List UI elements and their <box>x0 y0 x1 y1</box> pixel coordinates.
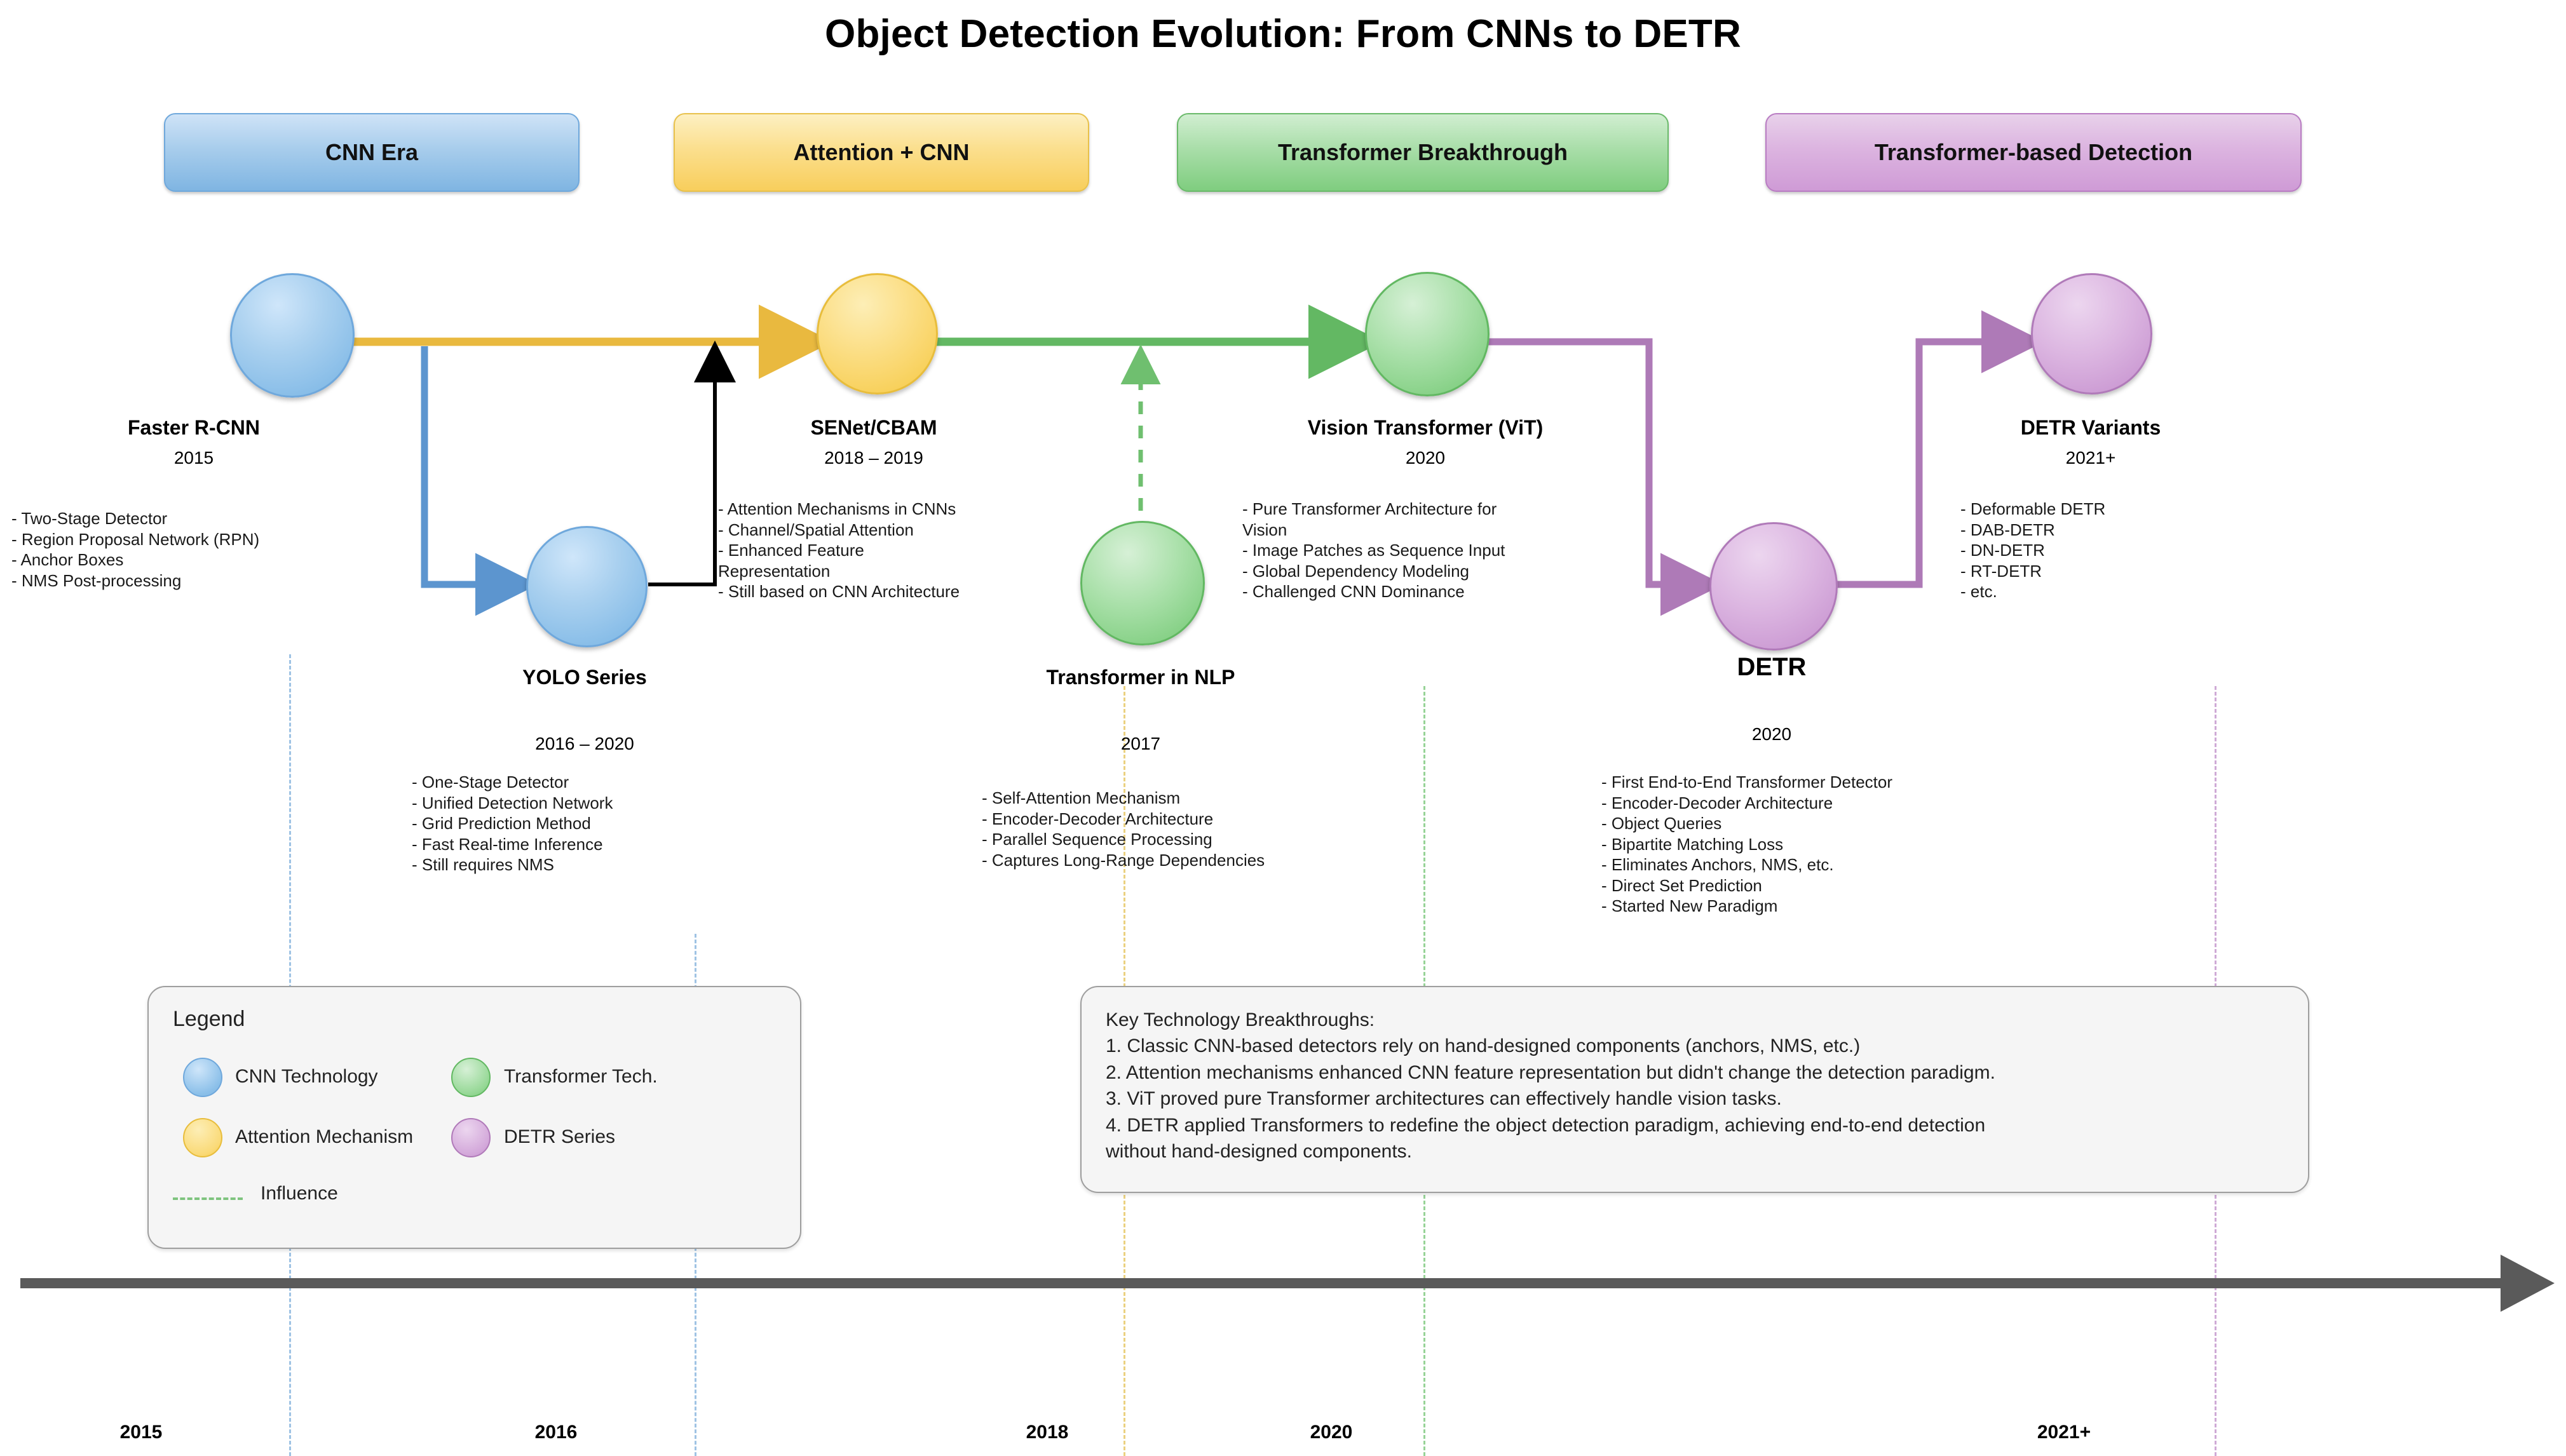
legend-label-attention: Attention Mechanism <box>235 1126 413 1148</box>
bullet: - DAB-DETR <box>1960 520 2342 541</box>
node-title-senet: SENet/CBAM <box>747 416 1001 440</box>
edge-yolo-to-senet <box>648 348 715 584</box>
node-title-yolo: YOLO Series <box>458 666 712 689</box>
legend-swatch-cnn <box>183 1058 222 1097</box>
bullet: - Attention Mechanisms in CNNs <box>718 499 1099 520</box>
node-year-detr-variants: 2021+ <box>1995 448 2186 468</box>
node-bullets-detr: - First End-to-End Transformer Detector … <box>1601 772 2110 917</box>
bullet: - Parallel Sequence Processing <box>982 829 1427 850</box>
bullet: - Region Proposal Network (RPN) <box>11 529 405 550</box>
bullet: - Deformable DETR <box>1960 499 2342 520</box>
bullet: - Direct Set Prediction <box>1601 875 2110 896</box>
bullet: - Self-Attention Mechanism <box>982 788 1427 809</box>
edge-fasterrcnn-to-yolo <box>424 346 524 584</box>
bullet: - Pure Transformer Architecture for <box>1242 499 1636 520</box>
legend-swatch-attention <box>183 1118 222 1157</box>
bullet: - Anchor Boxes <box>11 549 405 570</box>
node-bullets-detr-variants: - Deformable DETR - DAB-DETR - DN-DETR -… <box>1960 499 2342 602</box>
node-detr-variants[interactable] <box>2031 273 2152 394</box>
axis-tick-2020: 2020 <box>1310 1422 1353 1443</box>
bullet: - Encoder-Decoder Architecture <box>1601 793 2110 814</box>
axis-tick-2015: 2015 <box>120 1422 163 1443</box>
legend-swatch-detr <box>451 1118 491 1157</box>
bullet: - NMS Post-processing <box>11 570 405 591</box>
bullet: - Two-Stage Detector <box>11 508 405 529</box>
node-year-yolo: 2016 – 2020 <box>489 734 680 754</box>
node-year-detr: 2020 <box>1676 724 1867 745</box>
bullet: - Started New Paradigm <box>1601 896 2110 917</box>
axis-tick-2021-plus: 2021+ <box>2037 1422 2091 1443</box>
node-vision-transformer[interactable] <box>1365 272 1490 396</box>
node-bullets-vit: - Pure Transformer Architecture for Visi… <box>1242 499 1636 602</box>
bullet: - RT-DETR <box>1960 561 2342 582</box>
node-bullets-faster-rcnn: - Two-Stage Detector - Region Proposal N… <box>11 508 405 591</box>
node-bullets-yolo: - One-Stage Detector - Unified Detection… <box>412 772 806 875</box>
node-bullets-senet: - Attention Mechanisms in CNNs - Channel… <box>718 499 1099 602</box>
info-line: without hand-designed components. <box>1106 1138 2294 1164</box>
bullet: - Bipartite Matching Loss <box>1601 834 2110 855</box>
node-senet-cbam[interactable] <box>817 273 938 394</box>
info-line: 2. Attention mechanisms enhanced CNN fea… <box>1106 1060 2294 1086</box>
legend-panel <box>147 986 801 1249</box>
bullet: - Captures Long-Range Dependencies <box>982 850 1427 871</box>
legend-heading: Legend <box>173 1007 245 1032</box>
node-title-detr-variants: DETR Variants <box>1964 416 2218 440</box>
node-bullets-nlp: - Self-Attention Mechanism - Encoder-Dec… <box>982 788 1427 870</box>
legend-label-transformer: Transformer Tech. <box>504 1066 658 1088</box>
info-line: 1. Classic CNN-based detectors rely on h… <box>1106 1033 2294 1059</box>
bullet: - Object Queries <box>1601 813 2110 834</box>
node-title-vit: Vision Transformer (ViT) <box>1282 416 1568 440</box>
bullet: - Channel/Spatial Attention <box>718 520 1099 541</box>
bullet: - Enhanced Feature <box>718 540 1099 561</box>
bullet: - Challenged CNN Dominance <box>1242 581 1636 602</box>
node-transformer-in-nlp[interactable] <box>1080 521 1205 645</box>
legend-influence-dash-icon <box>173 1197 243 1200</box>
node-year-nlp: 2017 <box>1045 734 1236 754</box>
bullet: - Encoder-Decoder Architecture <box>982 809 1427 830</box>
bullet: - Still based on CNN Architecture <box>718 581 1099 602</box>
node-yolo-series[interactable] <box>526 526 648 647</box>
info-line: 4. DETR applied Transformers to redefine… <box>1106 1112 2294 1138</box>
node-faster-rcnn[interactable] <box>230 273 355 398</box>
bullet: Vision <box>1242 520 1636 541</box>
node-year-faster-rcnn: 2015 <box>98 448 289 468</box>
bullet: - Eliminates Anchors, NMS, etc. <box>1601 854 2110 875</box>
info-heading: Key Technology Breakthroughs: <box>1106 1007 2294 1033</box>
axis-tick-2018: 2018 <box>1026 1422 1069 1443</box>
bullet: - Global Dependency Modeling <box>1242 561 1636 582</box>
key-breakthroughs-text: Key Technology Breakthroughs: 1. Classic… <box>1106 1007 2294 1164</box>
bullet: - First End-to-End Transformer Detector <box>1601 772 2110 793</box>
bullet: - Image Patches as Sequence Input <box>1242 540 1636 561</box>
bullet: Representation <box>718 561 1099 582</box>
bullet: - Fast Real-time Inference <box>412 834 806 855</box>
bullet: - Still requires NMS <box>412 854 806 875</box>
node-detr[interactable] <box>1709 522 1838 650</box>
timeline-arrowhead <box>2501 1255 2555 1312</box>
node-year-senet: 2018 – 2019 <box>778 448 969 468</box>
info-line: 3. ViT proved pure Transformer architect… <box>1106 1086 2294 1112</box>
bullet: - Grid Prediction Method <box>412 813 806 834</box>
legend-label-detr: DETR Series <box>504 1126 615 1148</box>
legend-label-influence: Influence <box>261 1183 338 1204</box>
bullet: - One-Stage Detector <box>412 772 806 793</box>
node-title-faster-rcnn: Faster R-CNN <box>67 416 321 440</box>
node-title-nlp: Transformer in NLP <box>1014 666 1268 689</box>
bullet: - Unified Detection Network <box>412 793 806 814</box>
axis-tick-2016: 2016 <box>535 1422 578 1443</box>
bullet: - DN-DETR <box>1960 540 2342 561</box>
bullet: - etc. <box>1960 581 2342 602</box>
legend-label-cnn: CNN Technology <box>235 1066 378 1088</box>
node-title-detr: DETR <box>1645 653 1899 682</box>
node-year-vit: 2020 <box>1330 448 1521 468</box>
legend-swatch-transformer <box>451 1058 491 1097</box>
